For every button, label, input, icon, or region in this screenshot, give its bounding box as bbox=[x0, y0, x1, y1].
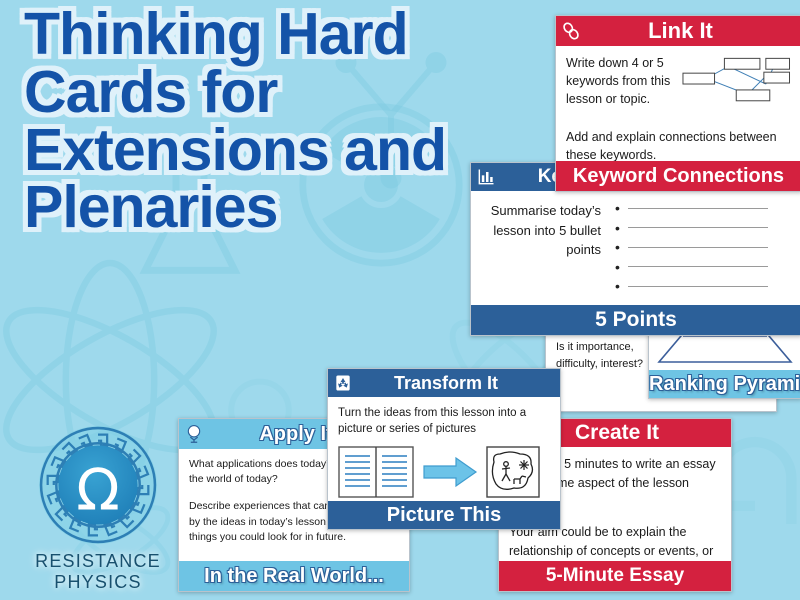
recycle-icon bbox=[328, 373, 358, 393]
bar-chart-icon bbox=[471, 167, 501, 187]
apply-footer: In the Real World... bbox=[179, 561, 409, 591]
link-para-1: Write down 4 or 5 keywords from this les… bbox=[566, 54, 675, 116]
link-header: Link It bbox=[556, 16, 800, 46]
points-bullet-lines: • • • • • bbox=[615, 199, 768, 297]
logo-name-line-2: PHYSICS bbox=[28, 572, 168, 593]
points-footer: 5 Points bbox=[471, 305, 800, 335]
points-body: Summarise today’s lesson into 5 bullet p… bbox=[471, 191, 800, 305]
transform-body: Turn the ideas from this lesson into a p… bbox=[328, 397, 560, 501]
transform-header: Transform It bbox=[328, 369, 560, 397]
omega-symbol: Ω bbox=[76, 457, 120, 523]
card-link-it[interactable]: Link It Write down 4 or 5 keywords from … bbox=[555, 15, 800, 192]
ranking-footer: Ranking Pyramid bbox=[649, 370, 800, 398]
arrow-right-icon bbox=[422, 455, 478, 489]
book-arrow-drawing-icon bbox=[338, 446, 550, 498]
transform-footer: Picture This bbox=[328, 501, 560, 529]
page-title: Thinking Hard Cards for Extensions and P… bbox=[24, 6, 544, 237]
card-transform-it[interactable]: Transform It Turn the ideas from this le… bbox=[327, 368, 561, 530]
title-line-3: Extensions and bbox=[24, 122, 544, 180]
omega-meander-logo-icon: Ω bbox=[37, 424, 159, 546]
link-header-label: Link It bbox=[586, 18, 800, 44]
globe-icon bbox=[179, 423, 209, 445]
title-line-2: Cards for bbox=[24, 64, 544, 122]
brand-logo: Ω RESISTANCE PHYSICS bbox=[28, 424, 168, 592]
title-line-4: Plenaries bbox=[24, 179, 544, 237]
link-body: Write down 4 or 5 keywords from this les… bbox=[556, 46, 800, 161]
title-line-1: Thinking Hard bbox=[24, 6, 544, 64]
cave-drawing-icon bbox=[486, 446, 540, 498]
link-para-2: Add and explain connections between thes… bbox=[566, 128, 791, 161]
transform-para-1: Turn the ideas from this lesson into a p… bbox=[338, 405, 550, 437]
link-footer: Keyword Connections bbox=[556, 161, 800, 191]
transform-header-label: Transform It bbox=[358, 373, 560, 394]
chain-link-icon bbox=[556, 20, 586, 42]
points-instruction: Summarise today’s lesson into 5 bullet p… bbox=[481, 199, 601, 297]
create-footer: 5-Minute Essay bbox=[499, 561, 731, 591]
logo-name-line-1: RESISTANCE bbox=[28, 551, 168, 572]
keyword-web-diagram-icon bbox=[681, 54, 791, 116]
poster-canvas: Thinking Hard Cards for Extensions and P… bbox=[0, 0, 800, 600]
